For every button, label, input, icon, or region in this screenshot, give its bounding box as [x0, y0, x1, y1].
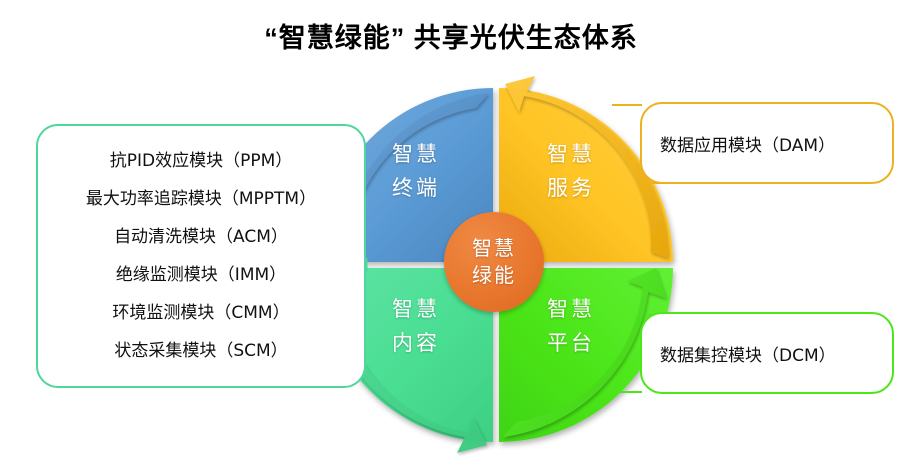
data-control-module-label: 数据集控模块（DCM） — [642, 341, 836, 366]
list-item[interactable]: 状态采集模块（SCM） — [56, 332, 346, 370]
center-hub-label: 智慧 绿能 — [472, 235, 516, 289]
diagram-canvas: “智慧绿能” 共享光伏生态体系 — [0, 0, 902, 459]
list-item[interactable]: 环境监测模块（CMM） — [56, 294, 346, 332]
list-item[interactable]: 抗PID效应模块（PPM） — [56, 142, 346, 180]
center-hub-line2: 绿能 — [472, 262, 516, 289]
center-hub[interactable]: 智慧 绿能 — [444, 212, 544, 312]
data-application-module-panel[interactable]: 数据应用模块（DAM） — [640, 102, 894, 184]
terminal-modules-panel[interactable]: 抗PID效应模块（PPM） 最大功率追踪模块（MPPTM） 自动清洗模块（ACM… — [36, 124, 366, 388]
list-item[interactable]: 绝缘监测模块（IMM） — [56, 256, 346, 294]
list-item[interactable]: 自动清洗模块（ACM） — [56, 218, 346, 256]
data-application-module-label: 数据应用模块（DAM） — [642, 131, 835, 156]
list-item[interactable]: 最大功率追踪模块（MPPTM） — [56, 180, 346, 218]
terminal-modules-list: 抗PID效应模块（PPM） 最大功率追踪模块（MPPTM） 自动清洗模块（ACM… — [38, 142, 364, 370]
center-hub-line1: 智慧 — [472, 235, 516, 262]
data-control-module-panel[interactable]: 数据集控模块（DCM） — [640, 312, 894, 394]
